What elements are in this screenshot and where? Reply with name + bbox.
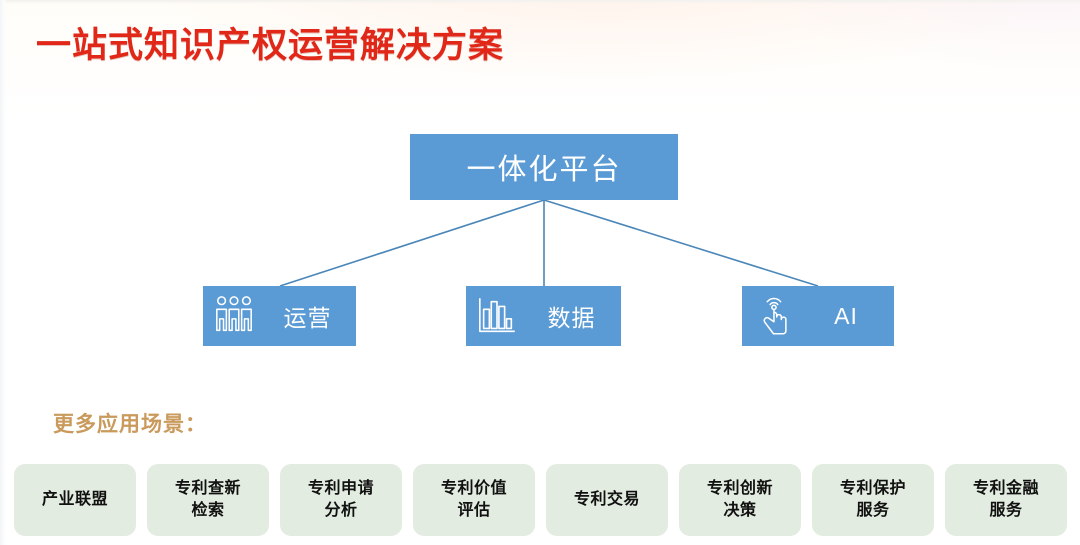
tag-line-1: 专利价值 <box>441 478 507 500</box>
scenario-tag[interactable]: 专利查新检索 <box>147 464 269 536</box>
node-ai-label: AI <box>806 303 894 330</box>
three-people-icon <box>213 294 255 338</box>
node-data-label: 数据 <box>530 299 621 333</box>
tag-line-1: 专利保护 <box>840 478 906 500</box>
node-operations-label: 运营 <box>267 299 356 333</box>
scenario-tag[interactable]: 专利交易 <box>546 464 668 536</box>
tag-line-1: 专利查新 <box>175 478 241 500</box>
tag-line-2: 服务 <box>840 500 906 522</box>
platform-diagram: 一体化平台 运营 <box>0 0 1080 400</box>
node-root-label: 一体化平台 <box>466 146 621 188</box>
tag-line-1: 产业联盟 <box>42 489 108 511</box>
node-ai[interactable]: AI <box>742 286 894 346</box>
tag-line-1: 专利金融 <box>973 478 1039 500</box>
scenario-tag[interactable]: 专利金融服务 <box>945 464 1067 536</box>
tag-line-1: 专利申请 <box>308 478 374 500</box>
scenario-tag[interactable]: 产业联盟 <box>14 464 136 536</box>
scenario-tag[interactable]: 专利保护服务 <box>812 464 934 536</box>
scenario-tag[interactable]: 专利价值评估 <box>413 464 535 536</box>
scenario-tag-row: 产业联盟 专利查新检索 专利申请分析 专利价值评估 专利交易 专利创新决策 专利… <box>14 464 1067 536</box>
scenario-tag[interactable]: 专利创新决策 <box>679 464 801 536</box>
more-scenarios-label: 更多应用场景： <box>53 408 207 438</box>
tag-line-2: 检索 <box>175 500 241 522</box>
tag-line-2: 评估 <box>441 500 507 522</box>
node-data[interactable]: 数据 <box>466 286 621 346</box>
tag-line-2: 分析 <box>308 500 374 522</box>
slide-stage: 一站式知识产权运营解决方案 一体化平台 运营 <box>0 0 1080 545</box>
node-integrated-platform[interactable]: 一体化平台 <box>410 134 678 200</box>
tag-line-2: 决策 <box>707 500 773 522</box>
tag-line-1: 专利创新 <box>707 478 773 500</box>
tag-line-2: 服务 <box>973 500 1039 522</box>
bar-chart-icon <box>476 294 518 338</box>
tag-line-1: 专利交易 <box>574 489 640 511</box>
touch-hand-icon <box>752 294 794 338</box>
node-operations[interactable]: 运营 <box>203 286 356 346</box>
scenario-tag[interactable]: 专利申请分析 <box>280 464 402 536</box>
